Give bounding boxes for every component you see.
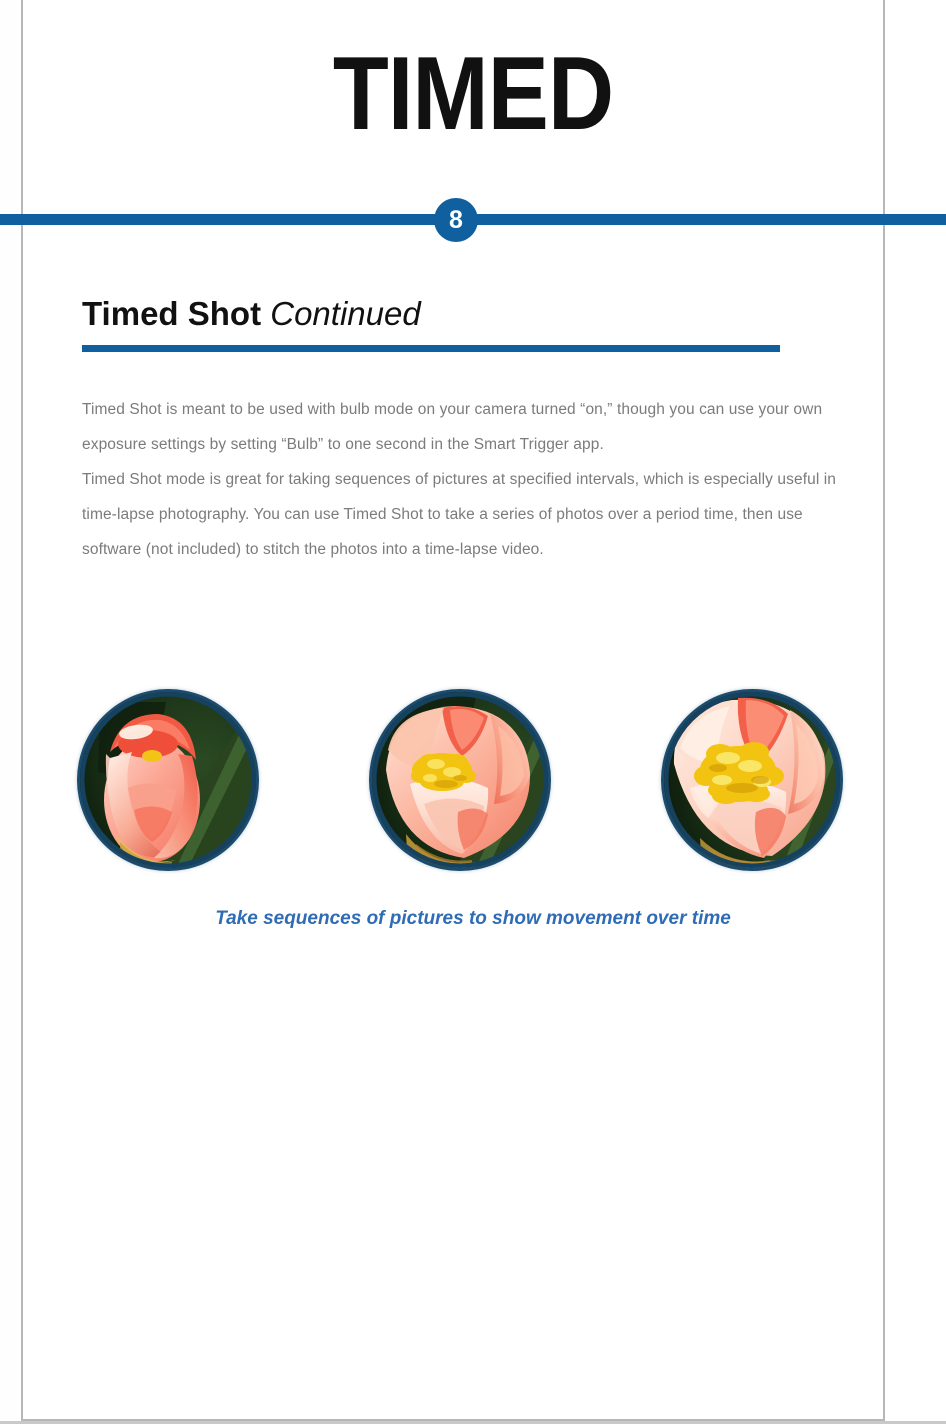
running-head: TIMED [57, 42, 889, 146]
page-number-badge: 8 [434, 198, 478, 242]
body-paragraph: Timed Shot is meant to be used with bulb… [82, 392, 844, 462]
section-heading-continued: Continued [270, 295, 420, 332]
flower-photo-3 [664, 692, 840, 868]
flower-photo-1 [80, 692, 256, 868]
section-heading-underline [82, 345, 780, 352]
flower-photo-circle-icon [372, 692, 548, 868]
body-paragraph: Timed Shot mode is great for taking sequ… [82, 462, 844, 567]
flower-photo-circle-icon [80, 692, 256, 868]
body-copy: Timed Shot is meant to be used with bulb… [82, 392, 844, 567]
flower-photo-circle-icon [664, 692, 840, 868]
flower-photo-2 [372, 692, 548, 868]
section-heading-main: Timed Shot [82, 295, 261, 332]
section-heading: Timed Shot Continued [82, 294, 421, 334]
figure-caption: Take sequences of pictures to show movem… [0, 908, 946, 930]
photo-strip [80, 692, 840, 868]
